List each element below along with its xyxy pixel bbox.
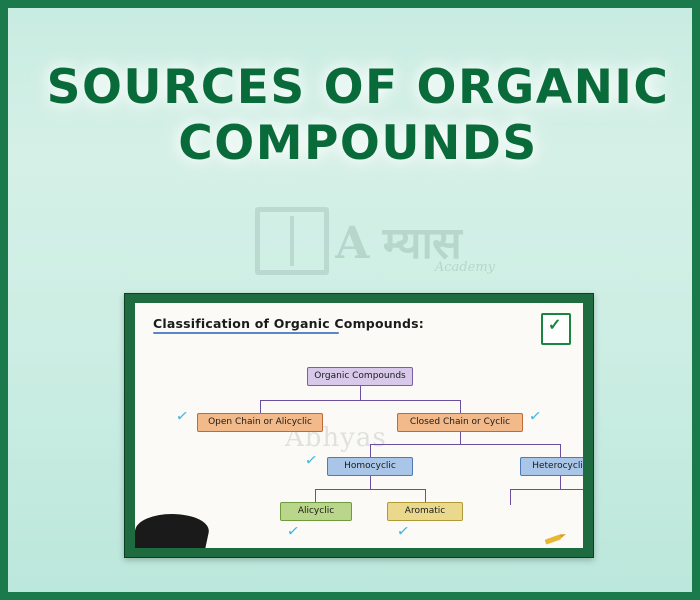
node-heterocyclic: Heterocyclic [520, 457, 583, 476]
notebook-check-mark: ✓ [548, 318, 561, 334]
whiteboard: Classification of Organic Compounds: ✓ A… [135, 303, 583, 548]
book-icon [255, 207, 329, 275]
watermark-text: A म्यास [335, 211, 460, 271]
node-organic-compounds: Organic Compounds [307, 367, 413, 386]
edge-to-aromatic [425, 489, 426, 502]
notebook-icon: ✓ [541, 313, 571, 345]
watermark-logo: A म्यास Academy [163, 198, 553, 283]
slide-photo: Classification of Organic Compounds: ✓ A… [124, 293, 594, 558]
check-mark-alicyclic: ✓ [286, 521, 301, 541]
edge-root-down [360, 386, 361, 400]
edge-to-closed-chain [460, 400, 461, 413]
check-mark-aromatic: ✓ [396, 521, 411, 541]
node-aromatic: Aromatic [387, 502, 463, 521]
node-open-chain-or-alicyclic: Open Chain or Alicyclic [197, 413, 323, 432]
pencil-icon [545, 534, 562, 544]
check-mark-closed-chain: ✓ [528, 406, 543, 426]
heading-underline [153, 332, 339, 334]
edge-heterocyclic-bus [510, 489, 583, 490]
hand-shadow [135, 514, 213, 548]
node-homocyclic: Homocyclic [327, 457, 413, 476]
edge-to-open-chain [260, 400, 261, 413]
poster: SOURCES OF ORGANIC COMPOUNDS A म्यास Aca… [0, 0, 700, 600]
edge-level1-bus [260, 400, 460, 401]
edge-to-homocyclic [370, 444, 371, 457]
edge-to-alicyclic [315, 489, 316, 502]
page-title-line-2: COMPOUNDS [8, 120, 700, 168]
edge-to-heterocyclic [560, 444, 561, 457]
edge-closed-down [460, 431, 461, 444]
check-mark-homocyclic: ✓ [304, 450, 319, 470]
page-title: SOURCES OF ORGANIC COMPOUNDS [8, 64, 700, 168]
page-title-line-1: SOURCES OF ORGANIC [8, 64, 700, 112]
check-mark-open-chain: ✓ [175, 406, 190, 426]
node-alicyclic: Alicyclic [280, 502, 352, 521]
edge-heterocyclic-down [560, 475, 561, 489]
edge-homocyclic-down [370, 475, 371, 489]
edge-heterocyclic-left [510, 489, 511, 505]
slide-heading: Classification of Organic Compounds: [153, 316, 424, 331]
node-closed-chain-or-cyclic: Closed Chain or Cyclic [397, 413, 523, 432]
edge-level2-bus [370, 444, 560, 445]
edge-level3-bus [315, 489, 425, 490]
watermark-subtext: Academy [435, 260, 495, 275]
